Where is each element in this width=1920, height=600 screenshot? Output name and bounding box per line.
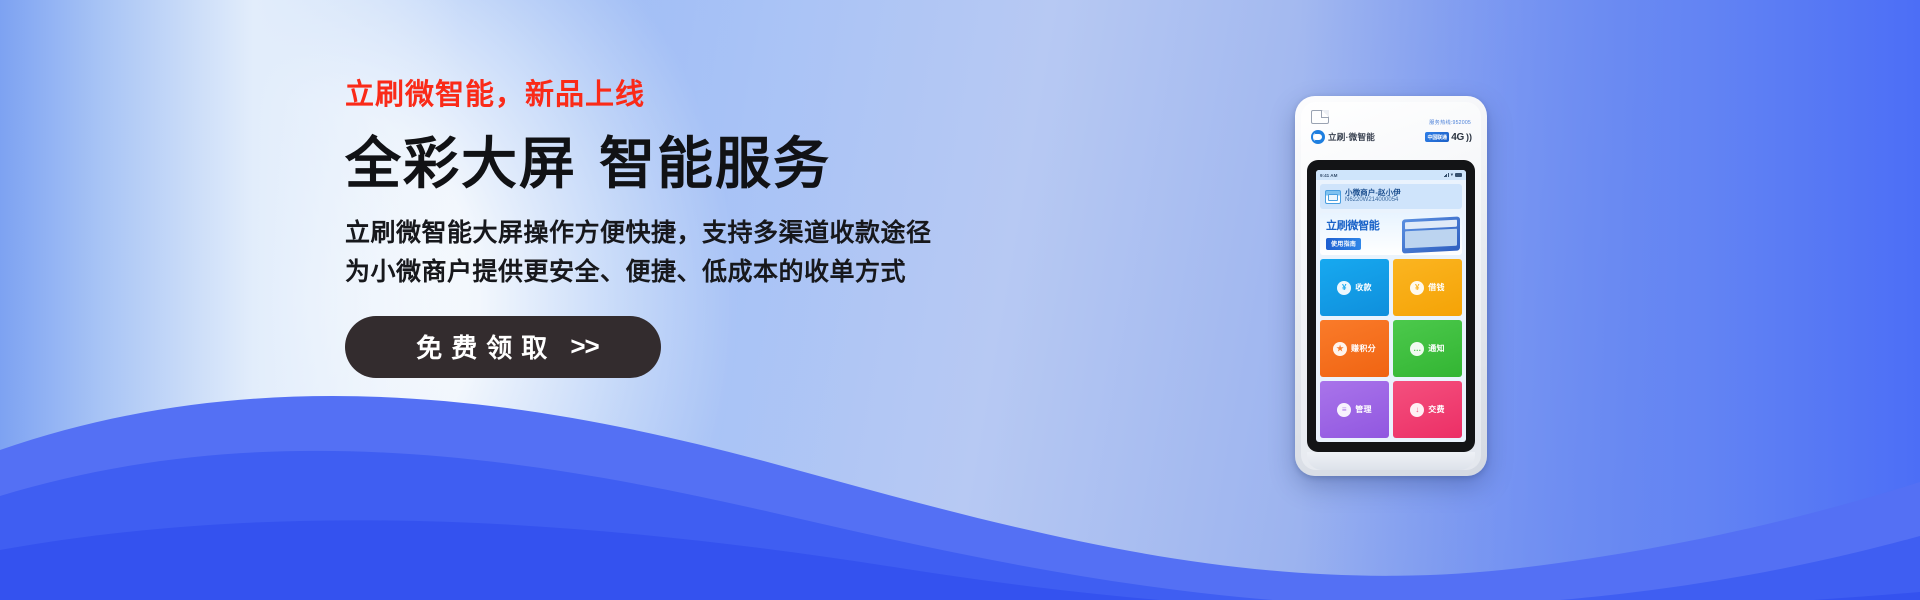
tile-zhuanjifen[interactable]: ★ 赚积分	[1320, 320, 1389, 377]
merchant-info: 小微商户-赵小伊 N6220W214000054	[1345, 188, 1401, 205]
message-icon: …	[1410, 342, 1424, 356]
tile-label: 赚积分	[1351, 343, 1376, 354]
banner-subcopy: 立刷微智能大屏操作方便快捷，支持多渠道收款途径 为小微商户提供更安全、便捷、低成…	[345, 214, 1045, 292]
yuan-icon: ¥	[1337, 281, 1351, 295]
usage-guide-button[interactable]: 使用指南	[1326, 238, 1361, 250]
eyebrow-text: 立刷微智能，新品上线	[345, 78, 1045, 113]
banner-copy: 立刷微智能，新品上线 全彩大屏智能服务 立刷微智能大屏操作方便快捷，支持多渠道收…	[345, 78, 1045, 378]
promo-banner-card[interactable]: 立刷微智能 使用指南	[1320, 213, 1462, 255]
headline-part-2: 智能服务	[599, 132, 831, 195]
promo-banner: 立刷微智能，新品上线 全彩大屏智能服务 立刷微智能大屏操作方便快捷，支持多渠道收…	[0, 0, 1920, 600]
brand-name: 立刷·微智能	[1328, 131, 1375, 143]
network-group: 中国联通 4G ))	[1425, 132, 1472, 143]
status-indicators: ▾	[1444, 172, 1462, 178]
subcopy-line-2: 为小微商户提供更安全、便捷、低成本的收单方式	[345, 253, 1045, 292]
status-time: 9:41 AM	[1320, 173, 1337, 178]
tile-label: 管理	[1355, 404, 1372, 415]
device-brand-row: 立刷·微智能 中国联通 4G ))	[1311, 130, 1472, 144]
tile-shoukuan[interactable]: ¥ 收款	[1320, 259, 1389, 316]
tile-label: 交费	[1428, 404, 1445, 415]
app-tile-grid: ¥ 收款 ¥ 借钱 ★ 赚积分	[1316, 259, 1466, 442]
device-top-panel: 服务热线:952005 立刷·微智能 中国联通 4G ))	[1301, 102, 1481, 160]
promo-device-thumbnail	[1402, 217, 1460, 254]
device-screen[interactable]: 9:41 AM ▾ 小微商户-赵小伊 N6220W214000	[1316, 170, 1466, 442]
carrier-chip: 中国联通	[1425, 132, 1449, 142]
device-face: 服务热线:952005 立刷·微智能 中国联通 4G ))	[1301, 102, 1481, 470]
device-shell: 服务热线:952005 立刷·微智能 中国联通 4G ))	[1295, 96, 1487, 476]
headline-part-1: 全彩大屏	[345, 132, 577, 195]
shop-icon	[1325, 190, 1341, 204]
tile-label: 通知	[1428, 343, 1445, 354]
merchant-name: 小微商户-赵小伊	[1345, 188, 1401, 197]
wifi-icon: ▾	[1451, 172, 1453, 178]
signal-bars-icon	[1444, 173, 1449, 177]
printer-slot-icon	[1311, 110, 1329, 124]
loan-icon: ¥	[1410, 281, 1424, 295]
tile-jieqian[interactable]: ¥ 借钱	[1393, 259, 1462, 316]
star-icon: ★	[1333, 342, 1347, 356]
free-claim-button[interactable]: 免费领取 >>	[345, 316, 661, 378]
status-bar: 9:41 AM ▾	[1316, 170, 1466, 180]
device-screen-bezel: 9:41 AM ▾ 小微商户-赵小伊 N6220W214000	[1307, 160, 1475, 452]
tile-label: 借钱	[1428, 282, 1445, 293]
download-icon: ↓	[1410, 403, 1424, 417]
promo-thumb-screen	[1405, 229, 1457, 249]
page-title: 全彩大屏智能服务	[345, 133, 1045, 196]
tile-jiaofei[interactable]: ↓ 交费	[1393, 381, 1462, 438]
promo-title: 立刷微智能	[1326, 217, 1402, 233]
list-icon: ≡	[1337, 403, 1351, 417]
subcopy-line-1: 立刷微智能大屏操作方便快捷，支持多渠道收款途径	[345, 214, 1045, 253]
merchant-id: N6220W214000054	[1345, 197, 1401, 205]
signal-waves-icon: ))	[1466, 132, 1472, 142]
brand-group: 立刷·微智能	[1311, 130, 1375, 144]
tile-label: 收款	[1355, 282, 1372, 293]
battery-icon	[1455, 173, 1462, 176]
service-hotline: 服务热线:952005	[1429, 119, 1471, 126]
merchant-card[interactable]: 小微商户-赵小伊 N6220W214000054	[1320, 184, 1462, 209]
device-bottom-bar	[1307, 452, 1475, 470]
promo-left: 立刷微智能 使用指南	[1320, 217, 1402, 251]
tile-guanli[interactable]: ≡ 管理	[1320, 381, 1389, 438]
network-label: 4G	[1451, 132, 1464, 143]
chevron-right-icon: >>	[570, 331, 598, 362]
brand-logo-icon	[1311, 130, 1325, 144]
cta-label: 免费领取	[407, 328, 556, 365]
tile-tongzhi[interactable]: … 通知	[1393, 320, 1462, 377]
pos-device: 服务热线:952005 立刷·微智能 中国联通 4G ))	[1295, 96, 1487, 476]
